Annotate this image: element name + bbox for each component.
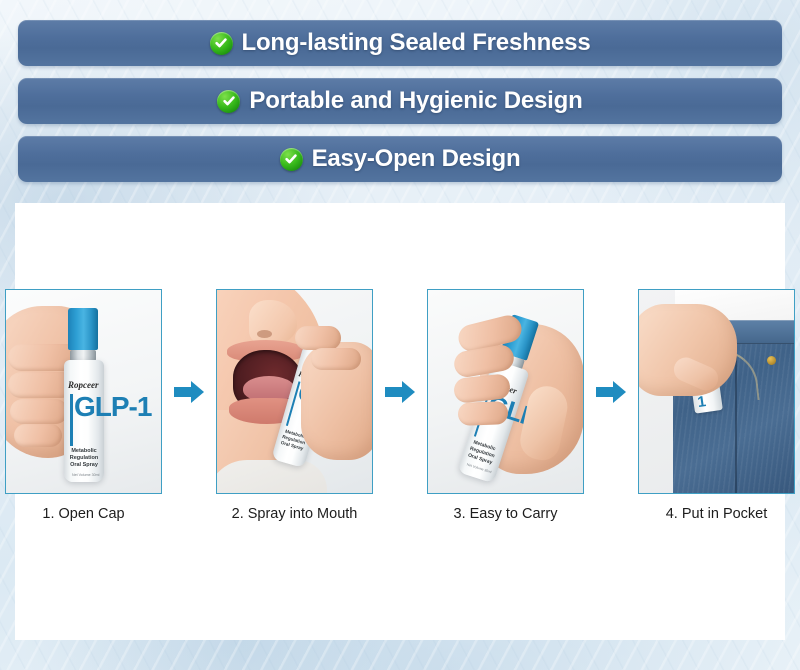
bottle-descriptor-3: Oral Spray: [68, 462, 100, 469]
right-arrow-icon: [174, 381, 204, 403]
step-2-caption: 2. Spray into Mouth: [232, 506, 358, 522]
product-bottle: Ropceer GLP-1 Metabolic Regulation Oral …: [64, 360, 104, 482]
right-arrow-icon: [596, 381, 626, 403]
benefit-banner-3-label: Easy-Open Design: [312, 145, 521, 173]
bottle-descriptor-2: Regulation: [68, 455, 100, 462]
step-2-photo: Ropceer GLP-1 Metabolic Regulation Oral …: [216, 289, 373, 494]
arrow-step-3-to-4: [586, 289, 637, 494]
usage-step-1: Ropceer GLP-1 Metabolic Regulation Oral …: [4, 289, 164, 522]
bottle-descriptor-1: Metabolic: [68, 448, 100, 455]
green-check-icon: [210, 32, 233, 55]
arrow-step-2-to-3: [375, 289, 426, 494]
green-check-icon: [217, 90, 240, 113]
usage-step-2: Ropceer GLP-1 Metabolic Regulation Oral …: [215, 289, 375, 522]
step-1-caption: 1. Open Cap: [42, 506, 124, 522]
benefit-banner-2-label: Portable and Hygienic Design: [249, 87, 582, 115]
benefit-banner-list: Long-lasting Sealed Freshness Portable a…: [18, 20, 782, 194]
benefit-banner-1-label: Long-lasting Sealed Freshness: [242, 29, 591, 57]
bottle-net-volume: Net Volume 30ml: [72, 473, 99, 477]
usage-steps-card: Ropceer GLP-1 Metabolic Regulation Oral …: [15, 203, 785, 640]
benefit-banner-3: Easy-Open Design: [18, 136, 782, 182]
right-arrow-icon: [385, 381, 415, 403]
step-4-caption: 4. Put in Pocket: [666, 506, 768, 522]
step-4-photo: Ropceer GLP-1: [638, 289, 795, 494]
bottle-product-name: GLP-1: [74, 391, 151, 423]
green-check-icon: [280, 148, 303, 171]
arrow-step-1-to-2: [164, 289, 215, 494]
step-3-caption: 3. Easy to Carry: [454, 506, 558, 522]
bottle-brand: Ropceer: [68, 380, 99, 390]
benefit-banner-2: Portable and Hygienic Design: [18, 78, 782, 124]
usage-step-4: Ropceer GLP-1 4. Put in Pocket: [637, 289, 797, 522]
infographic-page: Long-lasting Sealed Freshness Portable a…: [0, 0, 800, 670]
benefit-banner-1: Long-lasting Sealed Freshness: [18, 20, 782, 66]
usage-steps-row: Ropceer GLP-1 Metabolic Regulation Oral …: [15, 289, 785, 539]
bottle-cap: [68, 308, 98, 350]
step-1-photo: Ropceer GLP-1 Metabolic Regulation Oral …: [5, 289, 162, 494]
step-3-photo: Ropceer GLP-1 Metabolic Regulation Oral …: [427, 289, 584, 494]
usage-step-3: Ropceer GLP-1 Metabolic Regulation Oral …: [426, 289, 586, 522]
